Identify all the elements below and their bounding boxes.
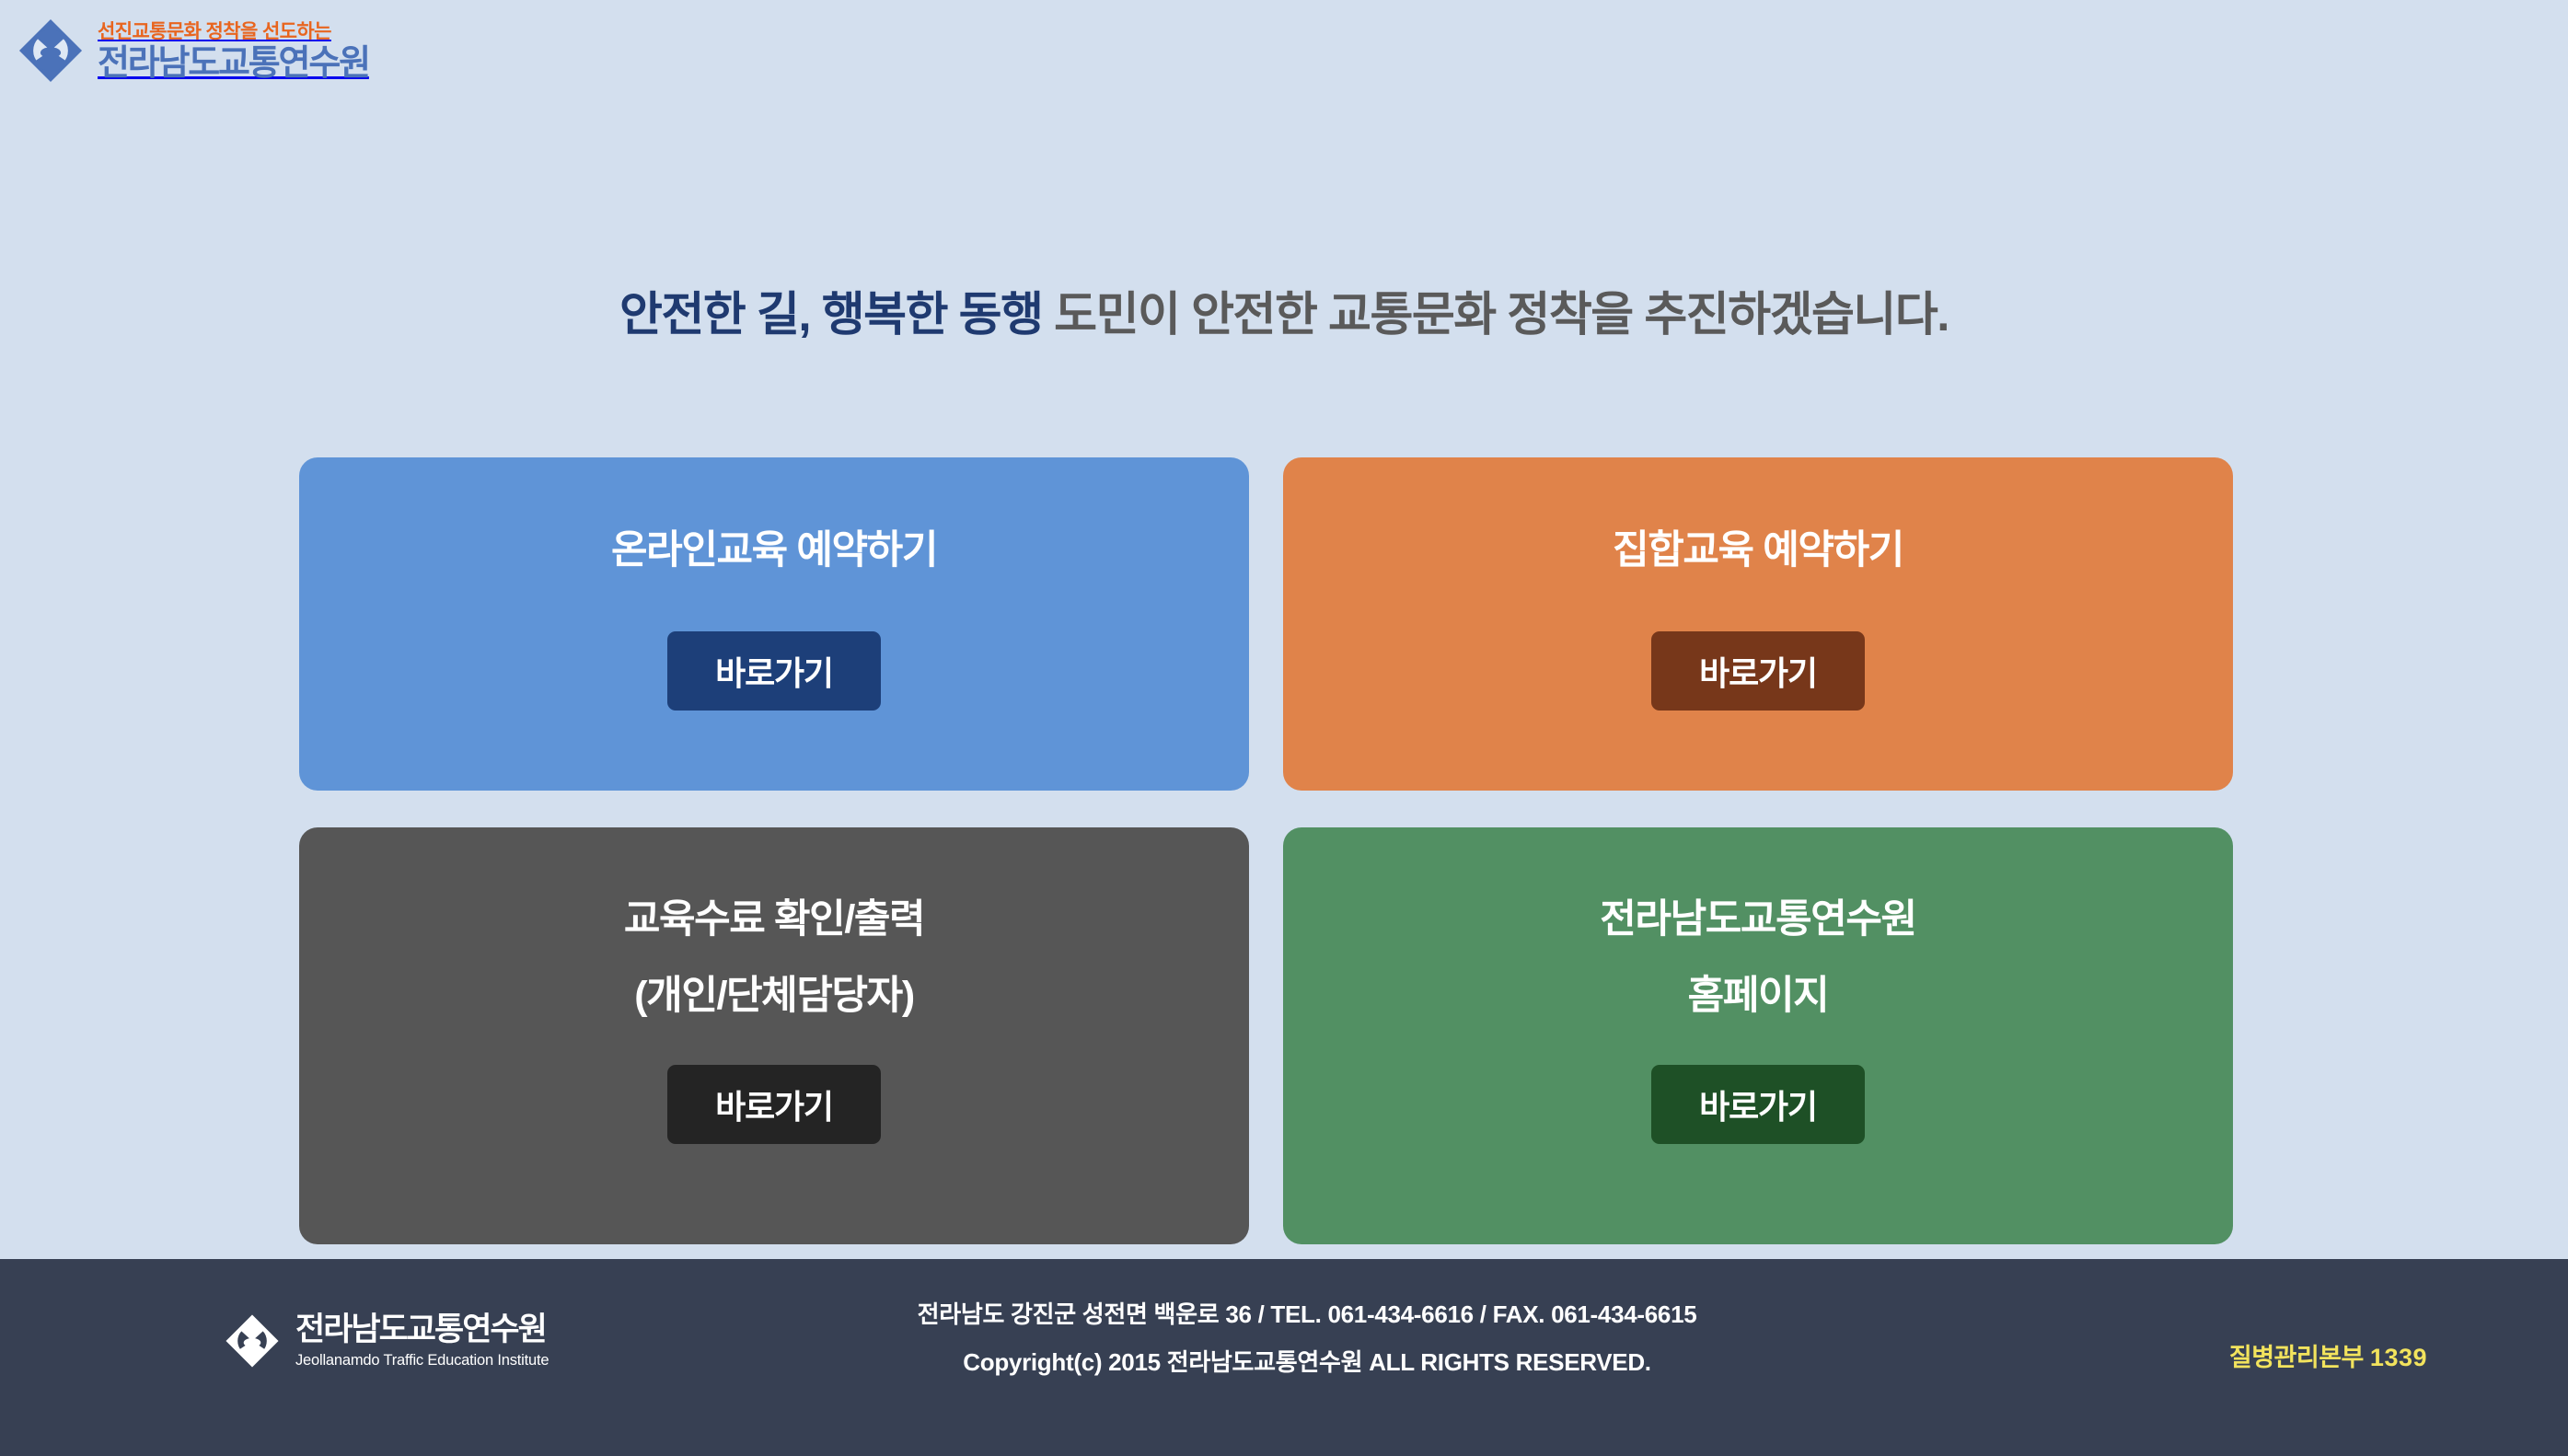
footer-address-line: 전라남도 강진군 성전면 백운로 36 / TEL. 061-434-6616 … <box>700 1302 1914 1326</box>
page-headline: 안전한 길, 행복한 동행 도민이 안전한 교통문화 정착을 추진하겠습니다. <box>0 276 2568 344</box>
footer-brand-name-en: Jeollanamdo Traffic Education Institute <box>295 1353 549 1369</box>
kdca-hotline: 질병관리본부 1339 <box>2229 1337 2427 1373</box>
card-subtitle: 홈페이지 <box>1688 976 1829 1016</box>
card-subtitle: (개인/단체담당자) <box>634 976 914 1016</box>
footer-brand-text-block: 전라남도교통연수원 Jeollanamdo Traffic Education … <box>295 1313 549 1369</box>
site-header: 선진교통문화 정착을 선도하는 전라남도교통연수원 <box>0 0 2568 184</box>
headline-emphasis: 안전한 길, 행복한 동행 <box>619 288 1042 341</box>
site-footer: 전라남도교통연수원 Jeollanamdo Traffic Education … <box>0 1259 2568 1456</box>
card-certificate-print[interactable]: 교육수료 확인/출력 (개인/단체담당자) 바로가기 <box>299 827 1249 1244</box>
card-title: 전라남도교통연수원 <box>1600 900 1915 940</box>
diamond-steering-wheel-logo-white-icon <box>224 1312 281 1369</box>
card-online-education[interactable]: 온라인교육 예약하기 바로가기 <box>299 457 1249 791</box>
diamond-steering-wheel-logo-icon <box>17 17 85 85</box>
brand-logo-link[interactable]: 선진교통문화 정착을 선도하는 전라남도교통연수원 <box>17 17 369 85</box>
card-institute-homepage[interactable]: 전라남도교통연수원 홈페이지 바로가기 <box>1283 827 2233 1244</box>
kdca-hotline-label: 질병관리본부 <box>2229 1344 2364 1371</box>
card-group-education[interactable]: 집합교육 예약하기 바로가기 <box>1283 457 2233 791</box>
brand-institute-name: 전라남도교통연수원 <box>98 46 369 81</box>
card-goto-button[interactable]: 바로가기 <box>1651 1065 1865 1144</box>
kdca-hotline-number: 1339 <box>2370 1344 2427 1371</box>
brand-text-block: 선진교통문화 정착을 선도하는 전라남도교통연수원 <box>98 20 369 81</box>
card-title: 집합교육 예약하기 <box>1613 531 1903 571</box>
card-goto-button[interactable]: 바로가기 <box>1651 631 1865 711</box>
card-goto-button[interactable]: 바로가기 <box>667 631 881 711</box>
shortcut-card-grid: 온라인교육 예약하기 바로가기 집합교육 예약하기 바로가기 교육수료 확인/출… <box>299 457 2270 1244</box>
brand-tagline: 선진교통문화 정착을 선도하는 <box>98 22 369 41</box>
card-title: 교육수료 확인/출력 <box>624 900 924 940</box>
footer-brand: 전라남도교통연수원 Jeollanamdo Traffic Education … <box>224 1312 549 1369</box>
footer-copyright-line: Copyright(c) 2015 전라남도교통연수원 ALL RIGHTS R… <box>700 1350 1914 1374</box>
footer-info: 전라남도 강진군 성전면 백운로 36 / TEL. 061-434-6616 … <box>700 1302 1914 1374</box>
card-title: 온라인교육 예약하기 <box>611 531 937 571</box>
headline-rest: 도민이 안전한 교통문화 정착을 추진하겠습니다. <box>1043 288 1949 341</box>
footer-brand-name: 전라남도교통연수원 <box>295 1313 549 1346</box>
card-goto-button[interactable]: 바로가기 <box>667 1065 881 1144</box>
